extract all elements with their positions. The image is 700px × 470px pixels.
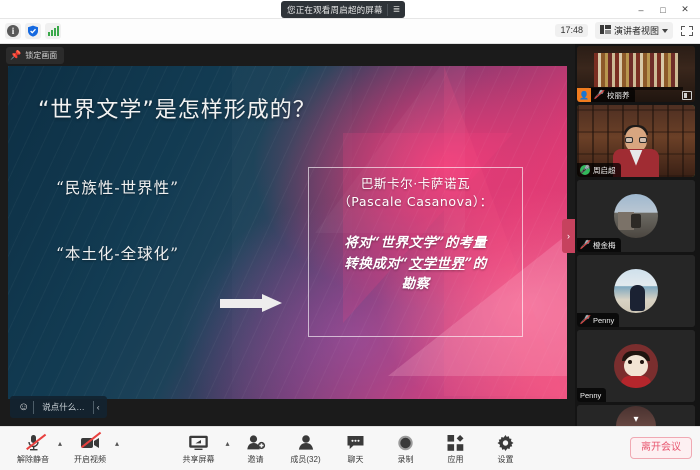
fullscreen-icon[interactable] <box>680 24 694 38</box>
chat-collapse-icon[interactable]: ‹ <box>94 402 103 412</box>
participant-name: 橙金梅 <box>593 240 616 251</box>
participant-tile[interactable]: 👤 🎤 校丽养 <box>577 46 695 102</box>
quote-line-2-pre: 转换成对“ <box>344 256 408 272</box>
slide-title: “世界文学”是怎样形成的？ <box>38 92 316 124</box>
participant-name-badge: 🎤 校丽养 <box>591 88 635 102</box>
chat-icon <box>347 433 365 452</box>
quote-line-2-underline: 文学世界 <box>409 256 465 272</box>
share-screen-button-label: 共享屏幕 <box>182 454 214 465</box>
shield-icon[interactable] <box>25 23 41 39</box>
share-screen-icon <box>682 91 692 100</box>
quote-line-3: 勘察 <box>309 274 522 294</box>
participants-icon <box>297 433 314 452</box>
apps-button-label: 应用 <box>448 454 464 465</box>
chat-input-placeholder[interactable]: 说点什么… <box>34 401 93 413</box>
participant-name-badge: 🎤 橙金梅 <box>577 238 621 252</box>
window-controls: – □ ✕ <box>630 0 696 19</box>
video-options-chevron-icon[interactable]: ▴ <box>115 431 119 448</box>
quote-line-2-post: ”的 <box>465 256 487 272</box>
topbar-right-controls: 17:48 演讲者视图 <box>555 22 694 39</box>
mic-muted-icon <box>26 433 41 452</box>
quote-line-2: 转换成对“文学世界”的 <box>309 254 522 274</box>
participant-name-badge: 🎤 Penny <box>577 313 619 327</box>
record-icon <box>398 433 414 452</box>
lock-screen-label: 锁定画面 <box>25 50 57 61</box>
chat-button-label: 聊天 <box>348 454 364 465</box>
emoji-icon[interactable]: ☺ <box>14 402 33 413</box>
mic-options-chevron-icon[interactable]: ▴ <box>58 431 62 448</box>
clock: 17:48 <box>555 24 588 37</box>
inline-chat-bar[interactable]: ☺ 说点什么… ‹ <box>10 396 107 418</box>
participant-tile[interactable]: 🎤 橙金梅 <box>577 180 695 252</box>
mic-active-icon: 🎤 <box>580 165 590 175</box>
participant-name-badge: Penny <box>577 388 606 402</box>
video-button-label: 开启视频 <box>74 454 106 465</box>
speaker-view-icon <box>600 25 611 36</box>
quote-line-1: 将对“世界文学”的考量 <box>309 233 522 253</box>
mic-muted-icon: 🎤 <box>580 315 590 325</box>
close-button[interactable]: ✕ <box>674 0 696 19</box>
apps-button[interactable]: 应用 <box>431 431 481 465</box>
mute-button-label: 解除静音 <box>17 454 49 465</box>
slide-bullet-1: “民族性-世界性” <box>56 176 179 198</box>
participant-name: Penny <box>580 391 601 400</box>
invite-button[interactable]: 邀请 <box>231 431 281 465</box>
apps-icon <box>448 433 464 452</box>
topbar-status-icons: i <box>5 23 61 39</box>
participant-tile[interactable]: 🎤 Penny <box>577 255 695 327</box>
shared-slide: “世界文学”是怎样形成的？ “民族性-世界性” “本土化-全球化” 巴斯卡尔·卡… <box>8 66 567 399</box>
screen-share-notice-text: 您正在观看周启超的屏幕 <box>287 4 383 16</box>
mute-button[interactable]: 解除静音 <box>8 431 58 465</box>
mic-muted-icon: 🎤 <box>580 240 590 250</box>
shared-screen-stage: 📌 锁定画面 “世界文学”是怎样形成的？ “民族性-世界性” “本土化-全球化”… <box>0 44 575 426</box>
signal-strength-icon[interactable] <box>45 23 61 39</box>
chevron-down-icon[interactable]: ▾ <box>633 414 638 425</box>
participants-button[interactable]: 成员(32) <box>281 431 331 465</box>
participant-name: 校丽养 <box>607 90 630 101</box>
toolbar-left-group: 解除静音 ▴ 开启视频 ▴ <box>8 431 120 465</box>
chat-button[interactable]: 聊天 <box>331 431 381 465</box>
window-titlebar: 您正在观看周启超的屏幕 ≣ – □ ✕ <box>0 0 700 19</box>
quote-author-cn: 巴斯卡尔·卡萨诺瓦 <box>309 175 522 193</box>
invite-button-label: 邀请 <box>248 454 264 465</box>
info-icon[interactable]: i <box>5 23 21 39</box>
list-menu-icon[interactable]: ≣ <box>392 5 402 14</box>
minimize-button[interactable]: – <box>630 0 652 19</box>
arrow-right-icon <box>220 294 284 311</box>
mic-muted-icon: 🎤 <box>594 90 604 100</box>
video-button[interactable]: 开启视频 <box>65 431 115 465</box>
record-button[interactable]: 录制 <box>381 431 431 465</box>
meeting-topbar: i 17:48 演讲者视图 <box>0 19 700 44</box>
divider <box>387 4 388 16</box>
slide-bullet-2: “本土化-全球化” <box>56 242 179 264</box>
participant-name-badge: 🎤 周启超 <box>577 163 621 177</box>
leave-meeting-button[interactable]: 离开会议 <box>630 437 692 459</box>
participant-tile-active[interactable]: 🎤 周启超 <box>577 105 695 177</box>
invite-icon <box>246 433 265 452</box>
view-selector-label: 演讲者视图 <box>614 24 659 37</box>
settings-gear-icon <box>498 433 514 452</box>
pin-icon: 📌 <box>10 51 21 60</box>
view-selector[interactable]: 演讲者视图 <box>595 22 673 39</box>
chevron-down-icon <box>662 29 668 33</box>
participant-tile[interactable]: Penny <box>577 330 695 402</box>
participant-name: 周启超 <box>593 165 616 176</box>
share-screen-icon <box>188 433 208 452</box>
lock-screen-control[interactable]: 📌 锁定画面 <box>6 47 64 64</box>
screen-share-notice: 您正在观看周启超的屏幕 ≣ <box>281 1 405 18</box>
panel-collapse-button[interactable]: › <box>562 219 575 253</box>
quote-author-en: （Pascale Casanova）： <box>309 193 522 211</box>
meeting-toolbar: 解除静音 ▴ 开启视频 ▴ 共享屏幕 ▴ <box>0 426 700 470</box>
maximize-button[interactable]: □ <box>652 0 674 19</box>
toolbar-center-group: 共享屏幕 ▴ 邀请 成员(32) 聊天 <box>169 431 530 465</box>
zoom-meeting-window: 您正在观看周启超的屏幕 ≣ – □ ✕ i 17:48 <box>0 0 700 470</box>
host-badge-icon: 👤 <box>577 88 591 102</box>
participants-button-label: 成员(32) <box>290 454 320 465</box>
share-options-chevron-icon[interactable]: ▴ <box>225 431 229 448</box>
slide-quote-box: 巴斯卡尔·卡萨诺瓦 （Pascale Casanova）： 将对“世界文学”的考… <box>308 167 523 337</box>
settings-button[interactable]: 设置 <box>481 431 531 465</box>
participant-filmstrip[interactable]: 👤 🎤 校丽养 🎤 周启超 <box>575 44 700 426</box>
share-screen-button[interactable]: 共享屏幕 <box>169 431 227 465</box>
video-off-icon <box>81 433 99 452</box>
record-button-label: 录制 <box>398 454 414 465</box>
participant-name: Penny <box>593 316 614 325</box>
settings-button-label: 设置 <box>498 454 514 465</box>
